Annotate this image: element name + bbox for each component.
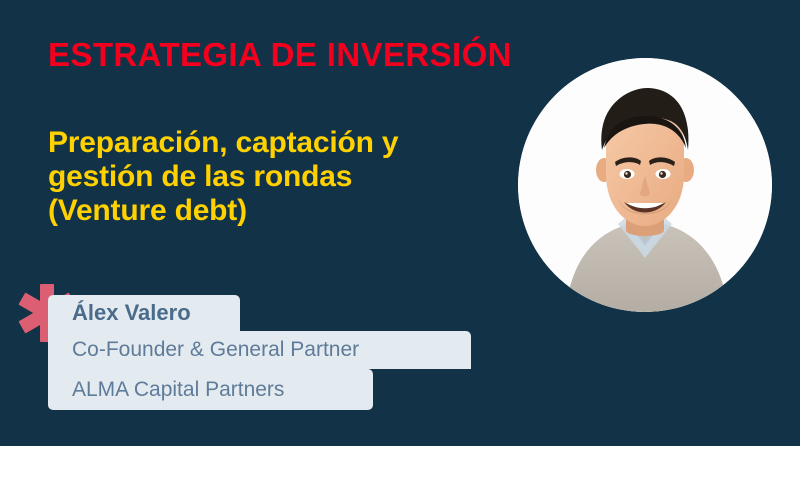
session-subtitle: Preparación, captación y gestión de las … bbox=[48, 126, 518, 228]
subtitle-line-2: gestión de las rondas bbox=[48, 160, 518, 194]
speaker-company-plate: ALMA Capital Partners bbox=[48, 369, 373, 410]
speaker-role: Co-Founder & General Partner bbox=[48, 338, 359, 362]
subtitle-line-3: (Venture debt) bbox=[48, 194, 518, 228]
poster: ESTRATEGIA DE INVERSIÓN Preparación, cap… bbox=[0, 0, 800, 500]
footer-logo-bar: ★★★★★★★★★★★★ Financiado por la Unión Eur… bbox=[0, 446, 800, 500]
speaker-portrait bbox=[518, 58, 772, 312]
subtitle-line-1: Preparación, captación y bbox=[48, 126, 518, 160]
page-title: ESTRATEGIA DE INVERSIÓN bbox=[48, 36, 512, 74]
speaker-name-plate: Álex Valero bbox=[48, 295, 240, 331]
speaker-name: Álex Valero bbox=[48, 300, 191, 326]
speaker-role-plate: Co-Founder & General Partner bbox=[48, 331, 471, 369]
speaker-company: ALMA Capital Partners bbox=[48, 378, 284, 402]
hero-panel: ESTRATEGIA DE INVERSIÓN Preparación, cap… bbox=[0, 0, 800, 446]
